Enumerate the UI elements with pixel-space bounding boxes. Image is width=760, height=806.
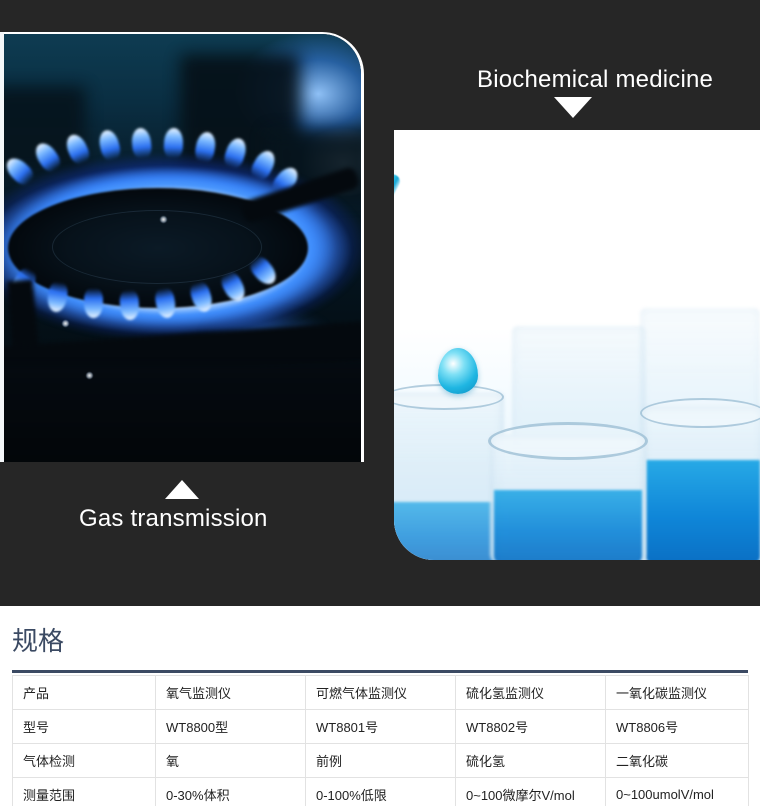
gas-transmission-label: Gas transmission	[79, 505, 268, 533]
table-cell: WT8801号	[306, 710, 456, 744]
table-cell: 0~100umolV/mol	[606, 778, 749, 806]
table-row: 产品 氧气监测仪 可燃气体监测仪 硫化氢监测仪 一氧化碳监测仪	[13, 676, 749, 710]
table-cell: 前例	[306, 744, 456, 778]
beaker-right-rim	[640, 398, 760, 428]
table-cell: 氧	[156, 744, 306, 778]
table-cell: 0-30%体积	[156, 778, 306, 806]
table-cell: 型号	[13, 710, 156, 744]
flame-tongue	[84, 288, 103, 318]
table-cell: 一氧化碳监测仪	[606, 676, 749, 710]
table-row: 型号 WT8800型 WT8801号 WT8802号 WT8806号	[13, 710, 749, 744]
stove-base	[4, 364, 364, 462]
table-cell: 产品	[13, 676, 156, 710]
table-row: 测量范围 0-30%体积 0-100%低限 0~100微摩尔V/mol 0~10…	[13, 778, 749, 806]
beaker-front-liquid	[494, 490, 642, 560]
table-cell: 0~100微摩尔V/mol	[456, 778, 606, 806]
table-cell: WT8806号	[606, 710, 749, 744]
table-cell: WT8800型	[156, 710, 306, 744]
highlight-speck	[62, 320, 69, 327]
table-cell: 硫化氢监测仪	[456, 676, 606, 710]
biochemical-medicine-photo	[394, 130, 760, 560]
spec-title-divider	[12, 670, 748, 673]
triangle-up-icon	[165, 480, 199, 499]
table-cell: 氧气监测仪	[156, 676, 306, 710]
highlight-speck	[160, 216, 167, 223]
gas-transmission-photo	[4, 32, 364, 462]
triangle-down-icon	[554, 97, 592, 118]
table-cell: WT8802号	[456, 710, 606, 744]
table-cell: 硫化氢	[456, 744, 606, 778]
table-cell: 气体检测	[13, 744, 156, 778]
beaker-front-rim	[488, 422, 648, 460]
specification-table: 产品 氧气监测仪 可燃气体监测仪 硫化氢监测仪 一氧化碳监测仪 型号 WT880…	[12, 675, 749, 806]
highlight-speck	[86, 372, 93, 379]
beaker-left-liquid	[394, 502, 500, 560]
beaker-right-liquid	[646, 460, 760, 560]
biochemical-medicine-label: Biochemical medicine	[477, 66, 713, 94]
page-root: Biochemical medicine Gas transmission 规格…	[0, 0, 760, 806]
liquid-droplet	[438, 348, 478, 394]
spec-section-title: 规格	[12, 621, 64, 658]
table-cell: 0-100%低限	[306, 778, 456, 806]
specification-section: 规格 产品 氧气监测仪 可燃气体监测仪 硫化氢监测仪 一氧化碳监测仪 型号 WT…	[0, 606, 760, 806]
table-cell: 可燃气体监测仪	[306, 676, 456, 710]
hero-banner: Biochemical medicine Gas transmission	[0, 0, 760, 606]
table-cell: 二氧化碳	[606, 744, 749, 778]
flame-tongue	[163, 128, 183, 159]
table-row: 气体检测 氧 前例 硫化氢 二氧化碳	[13, 744, 749, 778]
table-cell: 测量范围	[13, 778, 156, 806]
